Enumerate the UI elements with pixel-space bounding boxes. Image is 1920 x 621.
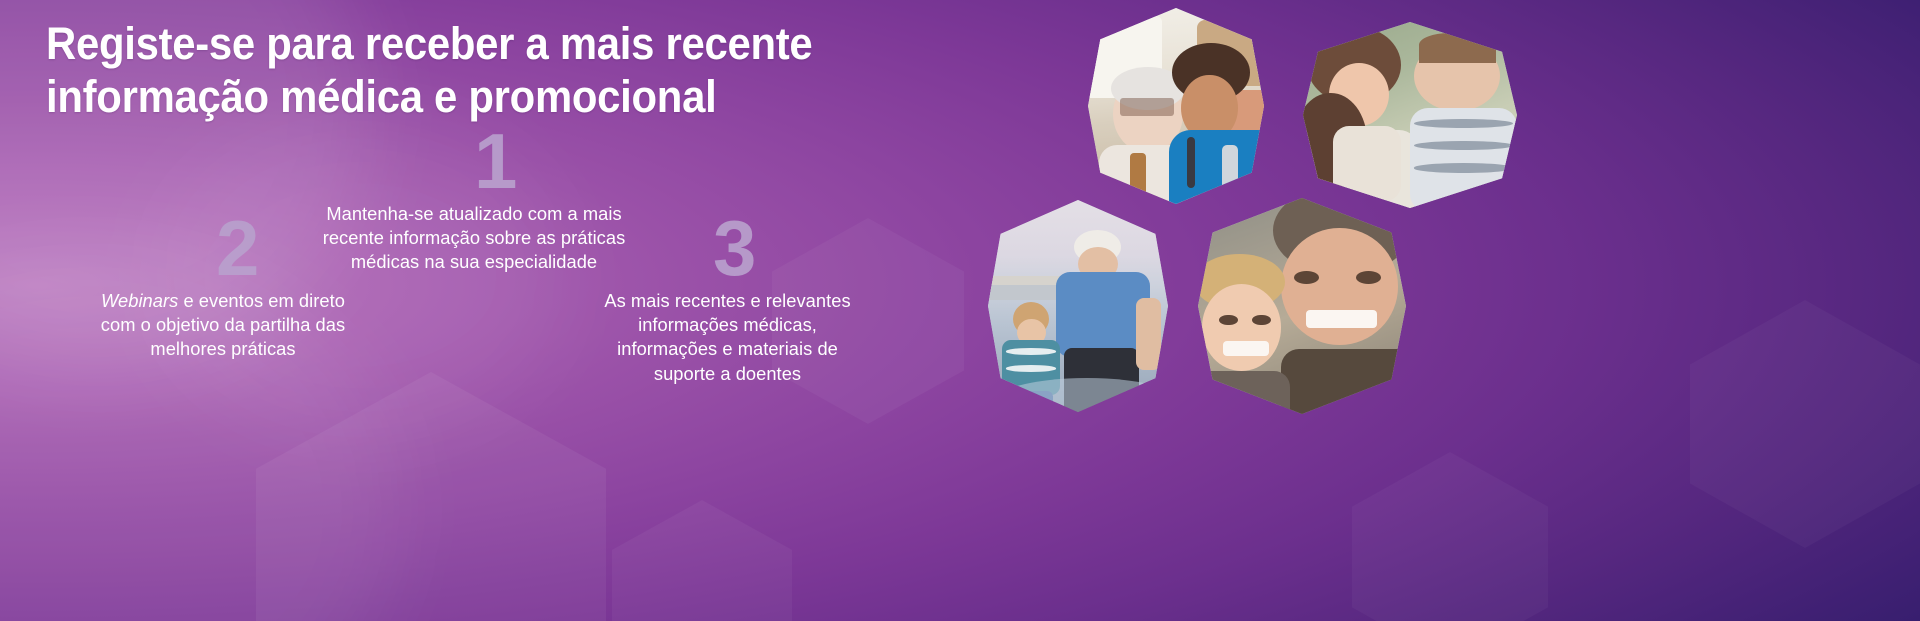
- benefit-number-3: 3: [713, 213, 900, 285]
- benefit-item-2: 2 Webinars e eventos em direto com o obj…: [38, 213, 408, 362]
- photo-father-and-son: [1198, 198, 1406, 414]
- benefit-2-italic-term: Webinars: [101, 290, 178, 311]
- banner-headline: Registe-se para receber a mais recente i…: [46, 18, 957, 123]
- photo-nurse-with-elderly-woman: [1088, 8, 1264, 204]
- benefit-2-line-2: com o objetivo da partilha das: [38, 313, 408, 337]
- headline-line-2: informação médica e promocional: [46, 71, 957, 124]
- benefit-2-line-3: melhores práticas: [38, 337, 408, 361]
- benefit-text-3: As mais recentes e relevantes informaçõe…: [555, 289, 900, 386]
- benefit-3-line-1: As mais recentes e relevantes: [555, 289, 900, 313]
- benefit-3-line-3: informações e materiais de: [555, 337, 900, 361]
- hexagon-watermark-large-center: [256, 372, 606, 621]
- benefit-3-line-4: suporte a doentes: [555, 362, 900, 386]
- benefit-2-line-1: Webinars e eventos em direto: [38, 289, 408, 313]
- benefit-text-2: Webinars e eventos em direto com o objet…: [38, 289, 408, 362]
- headline-line-1: Registe-se para receber a mais recente: [46, 18, 957, 71]
- registration-banner: Registe-se para receber a mais recente i…: [0, 0, 1920, 621]
- benefit-3-line-2: informações médicas,: [555, 313, 900, 337]
- benefit-2-line-1-rest: e eventos em direto: [178, 290, 345, 311]
- photo-grandfather-and-boy-at-beach: [988, 200, 1168, 412]
- benefit-item-3: 3 As mais recentes e relevantes informaç…: [555, 213, 900, 386]
- hexagon-watermark-lower-mid: [612, 500, 792, 621]
- benefit-number-2: 2: [216, 213, 408, 285]
- hexagon-watermark-bottom-right: [1352, 452, 1548, 621]
- hexagon-watermark-deep-right: [1690, 300, 1920, 548]
- photo-mother-with-baby: [1303, 22, 1517, 208]
- benefit-number-1: 1: [474, 126, 664, 198]
